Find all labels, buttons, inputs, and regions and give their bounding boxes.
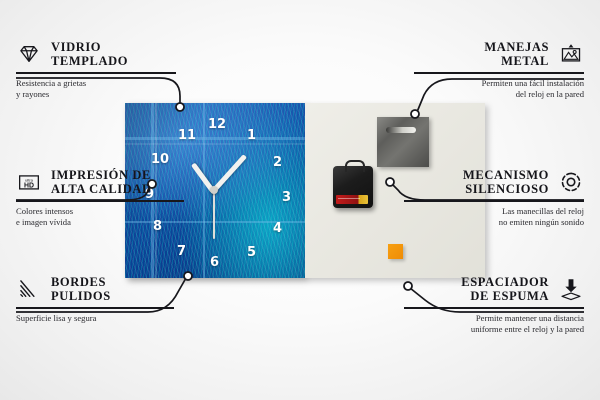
feature-manejas-metal: MANEJAS METAL Permiten una fácil instala… — [414, 40, 584, 100]
clock-numeral: 1 — [247, 129, 256, 142]
clock-numeral: 10 — [151, 153, 169, 166]
feature-header: ultra HD IMPRESIÓN DE ALTA CALIDAD — [16, 168, 196, 196]
feature-header: MANEJAS METAL — [414, 40, 584, 68]
clock-numeral: 3 — [282, 191, 291, 204]
clock-numeral: 5 — [247, 246, 256, 259]
polished-edge-icon — [16, 276, 42, 302]
feature-title: ESPACIADOR DE ESPUMA — [461, 275, 549, 303]
clock-second-hand — [213, 191, 215, 239]
hanger-slot — [386, 127, 416, 133]
mechanism-hook — [345, 160, 365, 172]
feature-rule — [16, 72, 176, 74]
feature-rule — [404, 307, 584, 309]
pattern-grid-line — [203, 103, 205, 278]
clock-numeral: 7 — [177, 245, 186, 258]
feature-rule — [16, 200, 184, 202]
feature-rule — [404, 200, 584, 202]
diamond-icon — [16, 41, 42, 67]
clock-center-cap — [210, 186, 218, 194]
clock-numeral: 6 — [210, 256, 219, 269]
feature-header: VIDRIO TEMPLADO — [16, 40, 186, 68]
ultra-hd-icon-bottom-text: HD — [24, 182, 34, 189]
feature-description: Permite mantener una distancia uniforme … — [404, 313, 584, 335]
pattern-grid-line — [125, 137, 305, 140]
feature-rule — [414, 72, 584, 74]
clock-numeral: 12 — [208, 118, 226, 131]
infographic-canvas: 12 1 2 3 4 5 6 7 8 9 10 11 — [0, 0, 600, 400]
feature-title: IMPRESIÓN DE ALTA CALIDAD — [51, 168, 152, 196]
feature-description: Colores intensos e imagen vívida — [16, 206, 196, 228]
feature-description: Permiten una fácil instalación del reloj… — [414, 78, 584, 100]
feature-header: MECANISMO SILENCIOSO — [404, 168, 584, 196]
clock-numeral: 2 — [273, 156, 282, 169]
ultra-hd-icon: ultra HD — [16, 169, 42, 195]
clock-numeral: 11 — [178, 129, 196, 142]
foam-spacer — [388, 244, 403, 259]
feature-description: Superficie lisa y segura — [16, 313, 186, 324]
feature-header: BORDES PULIDOS — [16, 275, 186, 303]
feature-espaciador-de-espuma: ESPACIADOR DE ESPUMA Permite mantener un… — [404, 275, 584, 335]
feature-title: BORDES PULIDOS — [51, 275, 111, 303]
feature-title: MANEJAS METAL — [484, 40, 549, 68]
metal-hanger-plate — [377, 117, 429, 167]
feature-impresion-alta-calidad: ultra HD IMPRESIÓN DE ALTA CALIDAD Color… — [16, 168, 196, 228]
foam-spacer-icon — [558, 276, 584, 302]
feature-mecanismo-silencioso: MECANISMO SILENCIOSO Las manecillas del … — [404, 168, 584, 228]
feature-vidrio-templado: VIDRIO TEMPLADO Resistencia a grietas y … — [16, 40, 186, 100]
feature-bordes-pulidos: BORDES PULIDOS Superficie lisa y segura — [16, 275, 186, 324]
clock-mechanism — [333, 166, 373, 208]
clock-numeral: 4 — [273, 222, 282, 235]
feature-description: Las manecillas del reloj no emiten ningú… — [404, 206, 584, 228]
feature-title: MECANISMO SILENCIOSO — [463, 168, 549, 196]
battery — [336, 195, 368, 204]
feature-description: Resistencia a grietas y rayones — [16, 78, 186, 100]
feature-title: VIDRIO TEMPLADO — [51, 40, 128, 68]
feature-rule — [16, 307, 174, 309]
gear-icon — [558, 169, 584, 195]
picture-hanger-icon — [558, 41, 584, 67]
feature-header: ESPACIADOR DE ESPUMA — [404, 275, 584, 303]
